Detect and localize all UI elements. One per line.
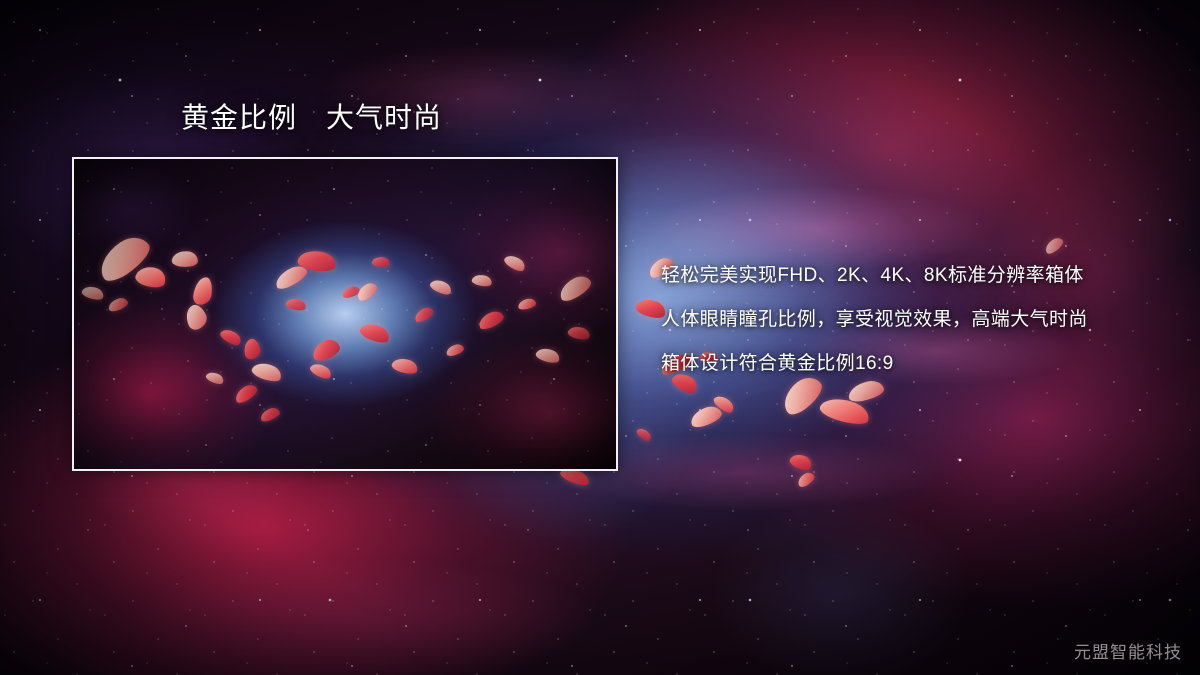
watermark: 元盟智能科技	[1074, 638, 1182, 663]
copy-line-3: 箱体设计符合黄金比例16:9	[661, 342, 1161, 386]
petal-shape	[795, 470, 816, 489]
page-title: 黄金比例 大气时尚	[181, 102, 442, 134]
petal-shape	[818, 393, 872, 429]
product-preview-panel[interactable]	[72, 157, 618, 471]
petal-shape	[712, 392, 737, 415]
petal-shape	[635, 426, 653, 444]
copy-line-1: 轻松完美实现FHD、2K、4K、8K标准分辨率箱体	[661, 254, 1161, 298]
presentation-slide: 黄金比例 大气时尚 轻松完美实现FHD、2K、4K、8K标准分辨率箱体 人体眼睛…	[0, 0, 1200, 675]
panel-nebula-image	[74, 159, 616, 469]
petal-shape	[788, 451, 814, 473]
body-copy-block: 轻松完美实现FHD、2K、4K、8K标准分辨率箱体 人体眼睛瞳孔比例，享受视觉效…	[661, 254, 1161, 386]
copy-line-2: 人体眼睛瞳孔比例，享受视觉效果，高端大气时尚	[661, 298, 1161, 342]
petal-shape	[1043, 235, 1066, 255]
petal-shape	[688, 403, 724, 429]
